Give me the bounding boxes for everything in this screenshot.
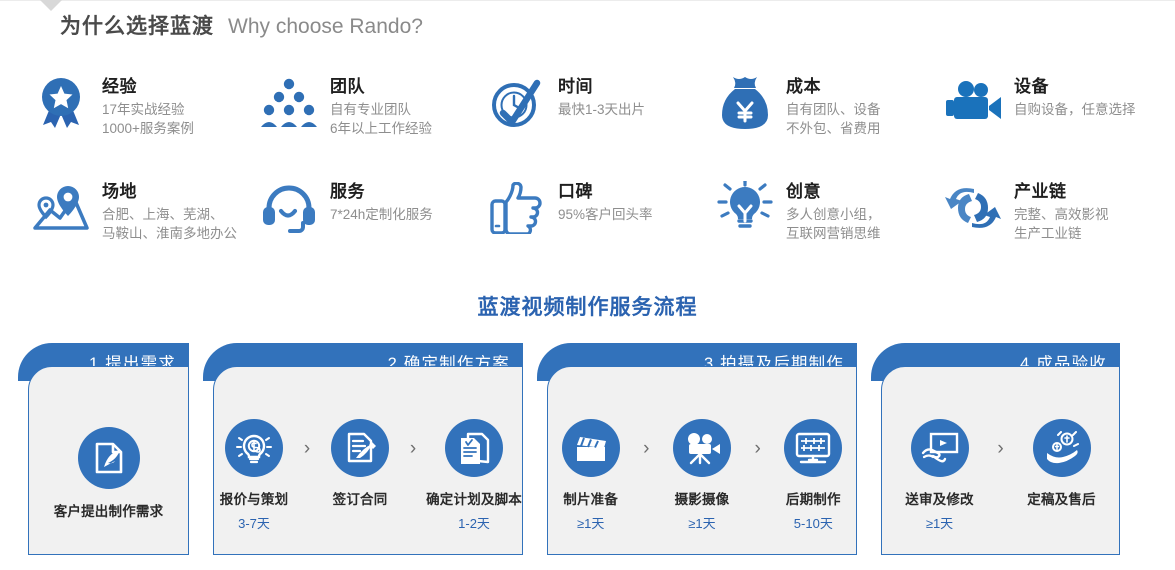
step-item-duration: 1-2天 (458, 513, 490, 532)
step-item-label: 确定计划及脚本 (426, 488, 522, 508)
feature-text: 场地 合肥、上海、芜湖、 马鞍山、淮南多地办公 (102, 177, 237, 243)
process-step-2[interactable]: 2.确定制作方案 (203, 343, 523, 555)
document-pen-icon (78, 427, 140, 489)
feature-title: 时间 (558, 76, 645, 98)
step-item[interactable]: 后期制作 5-10天 (771, 419, 856, 532)
chevron-right-icon: › (988, 439, 1014, 458)
process-section-title: 蓝渡视频制作服务流程 (0, 291, 1175, 321)
feature-text: 产业链 完整、高效影视 生产工业链 (1014, 177, 1109, 243)
feature-desc: 95%客户回头率 (558, 206, 653, 225)
step-body: 客户提出制作需求 (28, 366, 189, 555)
step-item-label: 送审及修改 (905, 488, 974, 508)
step-item[interactable]: 客户提出制作需求 (61, 427, 157, 525)
feature-text: 成本 自有团队、设备 不外包、省费用 (786, 72, 881, 138)
chevron-right-icon: › (745, 439, 771, 458)
idea-money-icon (225, 419, 283, 477)
step-item-label: 客户提出制作需求 (54, 500, 164, 520)
feature-title: 经验 (102, 76, 194, 98)
feature-title: 场地 (102, 181, 237, 203)
step-items: 报价与策划 3-7天 › 签订合同 (214, 389, 522, 532)
feature-title: 口碑 (558, 181, 653, 203)
step-item[interactable]: 定稿及售后 (1014, 419, 1110, 513)
feature-item-creativity: 创意 多人创意小组， 互联网营销思维 (708, 177, 936, 282)
map-pin-icon (32, 179, 90, 237)
lightbulb-icon (716, 179, 774, 237)
top-divider (0, 0, 1175, 1)
video-camera-icon (944, 74, 1002, 132)
step-item-duration: ≥1天 (577, 513, 604, 532)
process-steps: 1.提出需求 客户提出制作需求 (18, 343, 1158, 555)
feature-item-equipment: 设备 自购设备，任意选择 (936, 72, 1164, 177)
step-item-label: 摄影摄像 (675, 488, 730, 508)
step-item[interactable]: 摄影摄像 ≥1天 (659, 419, 744, 532)
monitor-edit-icon (784, 419, 842, 477)
feature-text: 口碑 95%客户回头率 (558, 177, 653, 225)
step-items: 制片准备 ≥1天 › (548, 389, 856, 532)
step-body: 送审及修改 ≥1天 › (881, 366, 1120, 555)
page-title: 为什么选择蓝渡 Why choose Rando? (60, 10, 423, 40)
page-title-cn: 为什么选择蓝渡 (60, 10, 214, 40)
feature-item-industry-chain: 产业链 完整、高效影视 生产工业链 (936, 177, 1164, 282)
feature-text: 团队 自有专业团队 6年以上工作经验 (330, 72, 432, 138)
recycle-arrows-icon (944, 179, 1002, 237)
feature-title: 服务 (330, 181, 433, 203)
feature-title: 产业链 (1014, 181, 1109, 203)
process-step-3[interactable]: 3.拍摄及后期制作 (537, 343, 857, 555)
feature-item-team: 团队 自有专业团队 6年以上工作经验 (252, 72, 480, 177)
feature-desc: 最快1-3天出片 (558, 101, 645, 120)
feature-item-venue: 场地 合肥、上海、芜湖、 马鞍山、淮南多地办公 (24, 177, 252, 282)
money-bag-icon (716, 74, 774, 132)
step-item[interactable]: 签订合同 (320, 419, 400, 513)
step-item-duration: 3-7天 (238, 513, 270, 532)
step-item[interactable]: 送审及修改 ≥1天 (892, 419, 988, 532)
step-item[interactable]: 报价与策划 3-7天 (214, 419, 294, 532)
step-item-duration: ≥1天 (926, 513, 953, 532)
chevron-right-icon: › (294, 439, 320, 458)
handshake-screen-icon (911, 419, 969, 477)
team-icon (260, 74, 318, 132)
step-item-label: 签订合同 (333, 488, 388, 508)
page-root: 为什么选择蓝渡 Why choose Rando? 经验 17年实战经验 100… (0, 0, 1175, 570)
feature-desc: 完整、高效影视 生产工业链 (1014, 206, 1109, 243)
step-item-label: 报价与策划 (220, 488, 289, 508)
feature-desc: 自有专业团队 6年以上工作经验 (330, 101, 432, 138)
feature-text: 创意 多人创意小组， 互联网营销思维 (786, 177, 881, 243)
film-camera-icon (673, 419, 731, 477)
step-body: 制片准备 ≥1天 › (547, 366, 857, 555)
feature-title: 设备 (1014, 76, 1136, 98)
page-title-en: Why choose Rando? (228, 15, 423, 39)
feature-desc: 自购设备，任意选择 (1014, 101, 1136, 120)
feature-desc: 自有团队、设备 不外包、省费用 (786, 101, 881, 138)
step-item-label: 制片准备 (563, 488, 618, 508)
feature-item-cost: 成本 自有团队、设备 不外包、省费用 (708, 72, 936, 177)
feature-title: 团队 (330, 76, 432, 98)
medal-icon (32, 74, 90, 132)
step-items: 送审及修改 ≥1天 › (882, 389, 1119, 532)
chevron-right-icon: › (400, 439, 426, 458)
thumbs-up-icon (488, 179, 546, 237)
script-docs-icon (445, 419, 503, 477)
step-item-label: 定稿及售后 (1027, 488, 1096, 508)
feature-desc: 17年实战经验 1000+服务案例 (102, 101, 194, 138)
feature-text: 设备 自购设备，任意选择 (1014, 72, 1136, 120)
step-item-duration: ≥1天 (688, 513, 715, 532)
clock-check-icon (488, 74, 546, 132)
feature-text: 经验 17年实战经验 1000+服务案例 (102, 72, 194, 138)
process-step-1[interactable]: 1.提出需求 客户提出制作需求 (18, 343, 189, 555)
feature-item-reputation: 口碑 95%客户回头率 (480, 177, 708, 282)
step-item[interactable]: 确定计划及脚本 1-2天 (426, 419, 522, 532)
feature-title: 成本 (786, 76, 881, 98)
feature-desc: 7*24h定制化服务 (330, 206, 433, 225)
top-notch-triangle-icon (40, 0, 62, 11)
step-item-label: 后期制作 (786, 488, 841, 508)
feature-text: 服务 7*24h定制化服务 (330, 177, 433, 225)
hand-coins-icon (1033, 419, 1091, 477)
contract-sign-icon (331, 419, 389, 477)
process-step-4[interactable]: 4.成品验收 送审及修改 ≥1天 (871, 343, 1120, 555)
feature-desc: 多人创意小组， 互联网营销思维 (786, 206, 881, 243)
feature-grid: 经验 17年实战经验 1000+服务案例 团队 (24, 72, 1164, 282)
feature-title: 创意 (786, 181, 881, 203)
feature-item-time: 时间 最快1-3天出片 (480, 72, 708, 177)
step-item-duration: 5-10天 (794, 513, 833, 532)
step-item[interactable]: 制片准备 ≥1天 (548, 419, 633, 532)
clapperboard-icon (562, 419, 620, 477)
step-body: 报价与策划 3-7天 › 签订合同 (213, 366, 523, 555)
feature-item-experience: 经验 17年实战经验 1000+服务案例 (24, 72, 252, 177)
feature-text: 时间 最快1-3天出片 (558, 72, 645, 120)
step-items: 客户提出制作需求 (29, 397, 188, 525)
chevron-right-icon: › (633, 439, 659, 458)
feature-desc: 合肥、上海、芜湖、 马鞍山、淮南多地办公 (102, 206, 237, 243)
feature-item-service: 服务 7*24h定制化服务 (252, 177, 480, 282)
headset-icon (260, 179, 318, 237)
